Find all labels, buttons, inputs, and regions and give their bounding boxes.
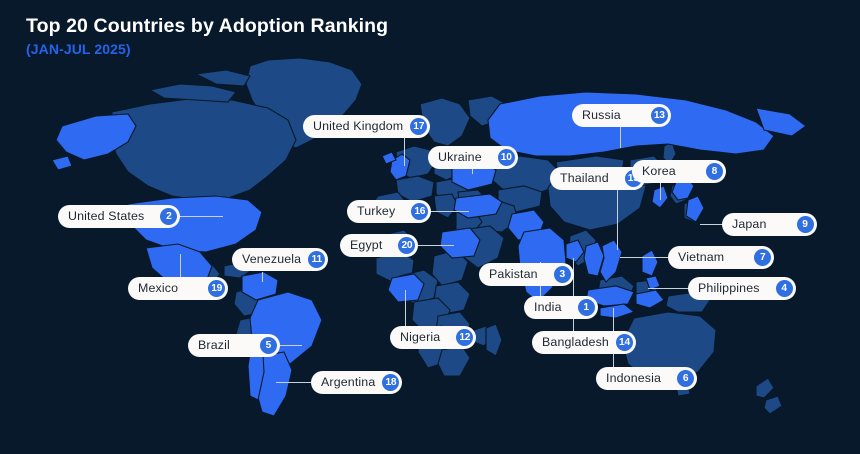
rank-badge: 18 [382,374,399,391]
country-name: Nigeria [400,326,456,349]
rank-badge: 6 [677,370,694,387]
rank-badge: 17 [410,118,427,135]
country-name: Japan [732,213,797,236]
page-title: Top 20 Countries by Adoption Ranking [26,14,388,38]
country-label-vietnam[interactable]: Vietnam7 [668,246,774,269]
country-name: Turkey [357,200,411,223]
country-name: India [534,296,578,319]
rank-badge: 2 [160,208,177,225]
country-label-pakistan[interactable]: Pakistan3 [479,263,574,286]
country-name: Ukraine [438,146,498,169]
country-label-india[interactable]: India1 [524,296,598,319]
country-name: Egypt [350,234,398,257]
country-label-indonesia[interactable]: Indonesia6 [596,367,697,390]
country-label-philippines[interactable]: Philippines4 [688,277,796,300]
rank-badge: 19 [208,280,225,297]
header: Top 20 Countries by Adoption Ranking (JA… [26,14,388,59]
country-name: United States [68,205,160,228]
rank-badge: 20 [398,237,415,254]
rank-badge: 11 [308,251,325,268]
country-label-united-states[interactable]: United States2 [58,205,180,228]
rank-badge: 7 [754,249,771,266]
country-labels: United States2Mexico19Venezuela11Brazil5… [0,0,860,454]
country-name: Argentina [321,371,382,394]
country-label-turkey[interactable]: Turkey16 [347,200,431,223]
country-name: Bangladesh [542,331,616,354]
country-label-thailand[interactable]: Thailand15 [550,167,645,190]
country-name: Indonesia [606,367,677,390]
country-label-korea[interactable]: Korea8 [632,160,726,183]
page-subtitle: (JAN-JUL 2025) [26,39,388,59]
country-name: Russia [582,104,651,127]
country-name: Venezuela [242,248,308,271]
rank-badge: 5 [260,337,277,354]
country-label-mexico[interactable]: Mexico19 [128,277,228,300]
rank-badge: 12 [456,329,473,346]
country-name: Philippines [698,277,776,300]
country-name: Mexico [138,277,208,300]
country-label-japan[interactable]: Japan9 [722,213,817,236]
country-label-venezuela[interactable]: Venezuela11 [232,248,328,271]
country-name: United Kingdom [313,115,410,138]
country-label-ukraine[interactable]: Ukraine10 [428,146,518,169]
rank-badge: 9 [797,216,814,233]
rank-badge: 8 [706,163,723,180]
country-label-bangladesh[interactable]: Bangladesh14 [532,331,636,354]
country-name: Thailand [560,167,625,190]
rank-badge: 10 [498,149,515,166]
country-label-nigeria[interactable]: Nigeria12 [390,326,476,349]
country-label-brazil[interactable]: Brazil5 [188,334,280,357]
rank-badge: 16 [411,203,428,220]
country-label-united-kingdom[interactable]: United Kingdom17 [303,115,430,138]
country-name: Brazil [198,334,260,357]
country-label-russia[interactable]: Russia13 [572,104,671,127]
country-label-argentina[interactable]: Argentina18 [311,371,402,394]
rank-badge: 1 [578,299,595,316]
rank-badge: 14 [616,334,633,351]
rank-badge: 13 [651,107,668,124]
rank-badge: 4 [776,280,793,297]
country-name: Korea [642,160,706,183]
country-name: Pakistan [489,263,554,286]
rank-badge: 3 [554,266,571,283]
country-label-egypt[interactable]: Egypt20 [340,234,418,257]
country-name: Vietnam [678,246,754,269]
world-map-infographic: Top 20 Countries by Adoption Ranking (JA… [0,0,860,454]
